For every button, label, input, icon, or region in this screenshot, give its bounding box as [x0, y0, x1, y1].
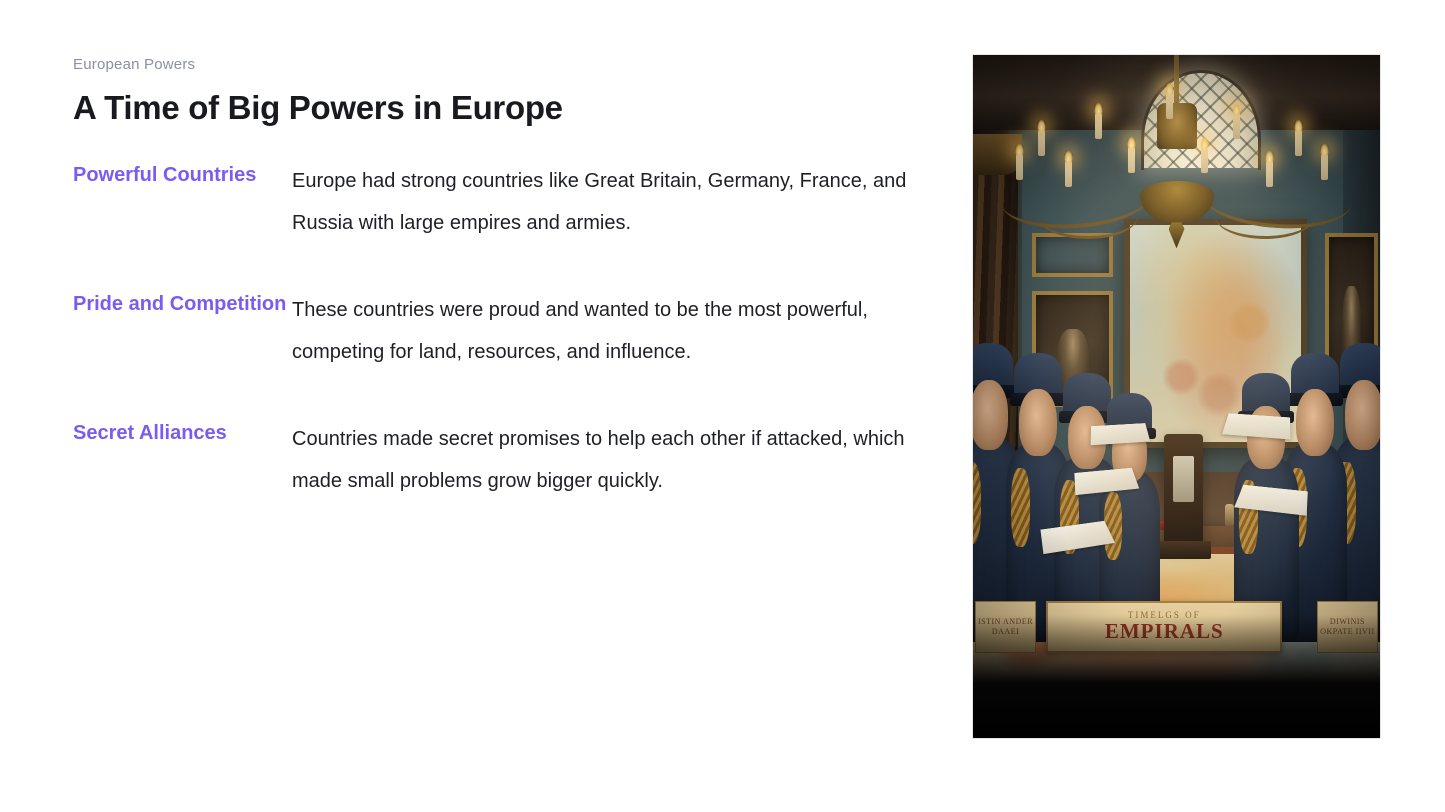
chandelier-body — [1157, 103, 1197, 149]
fact-row-body: These countries were proud and wanted to… — [292, 290, 912, 373]
wall-frame-empty — [1032, 233, 1113, 277]
chandelier-chain — [1174, 55, 1179, 110]
fact-row-label: Secret Alliances — [73, 419, 292, 446]
officer-head — [1019, 389, 1057, 456]
fact-row-body: Europe had strong countries like Great B… — [292, 161, 912, 244]
fact-row: Powerful Countries Europe had strong cou… — [73, 161, 923, 244]
decanter — [1225, 504, 1234, 526]
candle-icon — [1233, 113, 1240, 139]
council-chamber-illustration: ISTIN ANDER DAAEI TIMELGS OF EMPIRALS DI… — [973, 55, 1380, 738]
officer-head — [1296, 389, 1334, 456]
candle-icon — [1016, 154, 1023, 180]
candle-icon — [1038, 130, 1045, 156]
chandelier-arm — [1038, 193, 1138, 239]
officer-braid — [973, 462, 981, 544]
slide-root: European Powers A Time of Big Powers in … — [0, 0, 1445, 812]
officer-braid — [1011, 468, 1031, 547]
page-title: A Time of Big Powers in Europe — [73, 88, 923, 128]
fact-row-list: Powerful Countries Europe had strong cou… — [73, 161, 923, 503]
map-cartouche: TIMELGS OF EMPIRALS — [1046, 601, 1282, 653]
officer-head — [1345, 380, 1380, 450]
candle-icon — [1095, 113, 1102, 139]
map-side-label-left: ISTIN ANDER DAAEI — [975, 601, 1036, 653]
candle-icon — [1128, 147, 1135, 173]
curtain-valance — [973, 134, 1022, 175]
candle-icon — [1065, 161, 1072, 187]
candle-icon — [1295, 130, 1302, 156]
candle-icon — [1201, 147, 1208, 173]
clock-face — [1173, 456, 1195, 502]
map-side-label-right: DIWINIS OKPATE IIVII — [1317, 601, 1378, 653]
fact-row: Pride and Competition These countries we… — [73, 290, 923, 373]
fact-row: Secret Alliances Countries made secret p… — [73, 419, 923, 502]
chandelier-arm — [1215, 193, 1315, 239]
fact-row-label: Pride and Competition — [73, 290, 292, 317]
candle-icon — [1321, 154, 1328, 180]
illustration-scene: ISTIN ANDER DAAEI TIMELGS OF EMPIRALS DI… — [973, 55, 1380, 738]
fact-row-label: Powerful Countries — [73, 161, 292, 188]
candle-icon — [1166, 93, 1173, 119]
fact-row-body: Countries made secret promises to help e… — [292, 419, 912, 502]
candle-icon — [1266, 161, 1273, 187]
content-column: European Powers A Time of Big Powers in … — [73, 55, 923, 503]
mantel-clock — [1164, 434, 1203, 543]
officer-head — [973, 380, 1008, 450]
map-cartouche-title: EMPIRALS — [1105, 620, 1224, 642]
eyebrow-label: European Powers — [73, 55, 923, 75]
